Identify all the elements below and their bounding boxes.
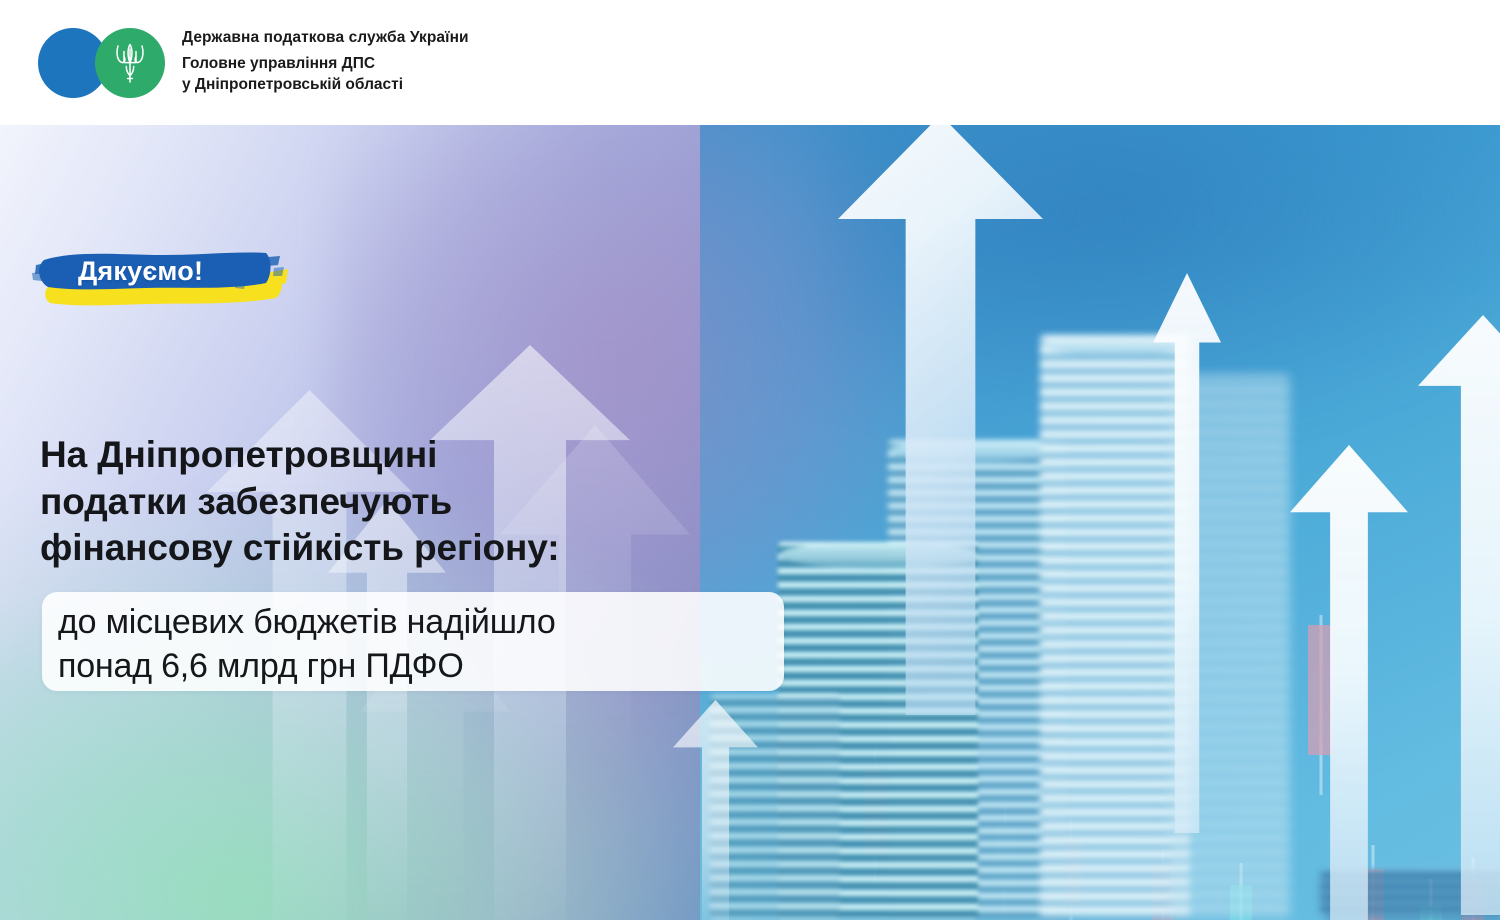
org-subtitle: Головне управління ДПС у Дніпропетровськ… <box>182 54 469 96</box>
up-arrow-icon <box>1418 315 1500 915</box>
ukraine-trident-icon <box>113 42 147 84</box>
up-arrow-icon <box>1290 445 1408 920</box>
thanks-badge-label: Дякуємо! <box>78 256 203 287</box>
page-title: На Дніпропетровщині податки забезпечують… <box>40 432 559 572</box>
up-arrow-icon <box>673 700 758 920</box>
highlight-text: до місцевих бюджетів надійшло понад 6,6 … <box>58 600 556 688</box>
logo <box>38 28 170 98</box>
up-arrow-icon <box>838 125 1043 715</box>
tax-service-banner: Державна податкова служба України Головн… <box>0 0 1500 920</box>
org-title: Державна податкова служба України <box>182 29 469 47</box>
header-bar: Державна податкова служба України Головн… <box>0 0 1500 125</box>
up-arrow-icon <box>1153 273 1221 833</box>
header-text-block: Державна податкова служба України Головн… <box>182 29 469 96</box>
logo-circle-green-icon <box>95 28 165 98</box>
